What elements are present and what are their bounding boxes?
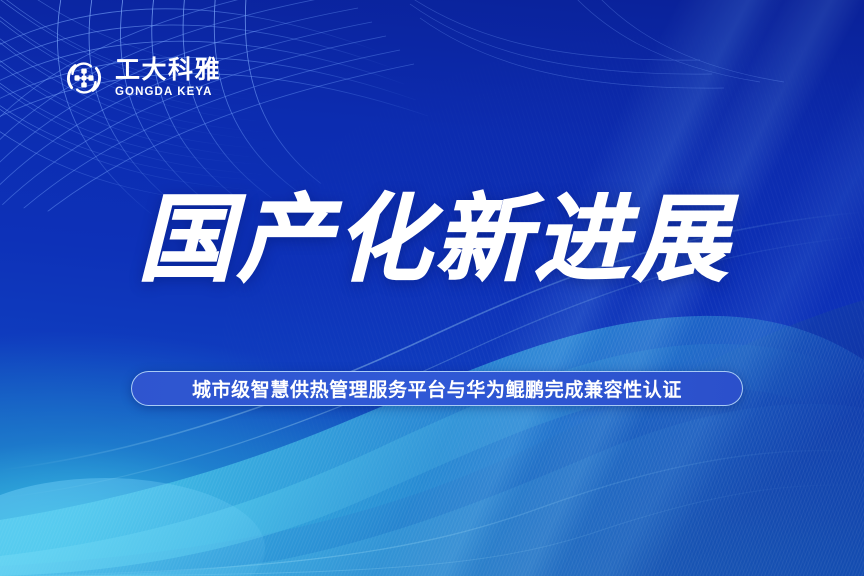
brand-logo: 工大科雅 GONGDA KEYA [62,56,221,100]
promo-poster: 工大科雅 GONGDA KEYA 国产化新进展 城市级智慧供热管理服务平台与华为… [0,0,864,576]
brand-name-en: GONGDA KEYA [115,87,221,99]
brand-wordmark: 工大科雅 GONGDA KEYA [115,58,221,99]
gongda-keya-logo-icon [62,56,106,100]
brand-name-cn: 工大科雅 [115,58,221,83]
subtitle-text: 城市级智慧供热管理服务平台与华为鲲鹏完成兼容性认证 [192,375,682,402]
page-title: 国产化新进展 [138,192,732,289]
subtitle-badge: 城市级智慧供热管理服务平台与华为鲲鹏完成兼容性认证 [131,371,743,406]
